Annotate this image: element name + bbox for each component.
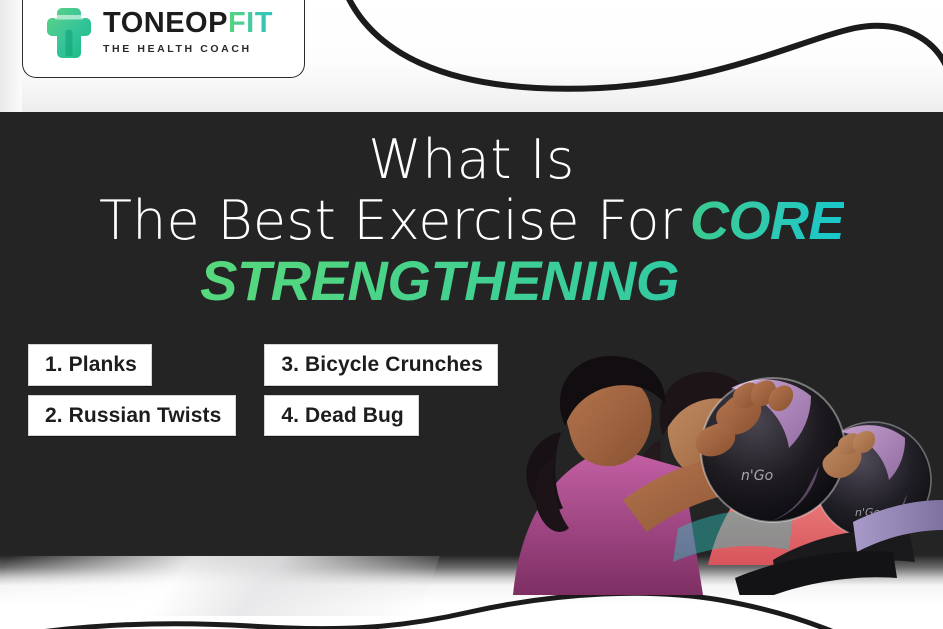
brand-name-part2: FIT — [228, 7, 273, 39]
poster-canvas: TONEOPFIT THE HEALTH COACH What Is The B… — [0, 0, 943, 629]
headline-accent-core: CORE — [682, 191, 844, 251]
exercise-photo-illustration: n'Go n'Go — [473, 340, 943, 595]
headline-block: What Is The Best Exercise ForCORE STRENG… — [0, 132, 943, 311]
headline-line-1: What Is — [0, 132, 943, 187]
brand-tagline: THE HEALTH COACH — [103, 43, 273, 55]
exercise-list: 1. Planks 3. Bicycle Crunches 2. Russian… — [28, 344, 498, 436]
headline-accent-strengthening: STRENGTHENING — [0, 252, 911, 311]
left-rail — [0, 0, 22, 112]
list-item[interactable]: 1. Planks — [28, 344, 152, 386]
list-item[interactable]: 3. Bicycle Crunches — [264, 344, 498, 386]
brand-logo-card[interactable]: TONEOPFIT THE HEALTH COACH — [22, 0, 305, 78]
list-item[interactable]: 2. Russian Twists — [28, 395, 236, 437]
headline-line-2-plain: The Best Exercise For — [99, 189, 682, 252]
toneop-cross-t-icon — [45, 6, 93, 58]
list-item[interactable]: 4. Dead Bug — [264, 395, 418, 437]
svg-text:n'Go: n'Go — [741, 468, 773, 484]
brand-name-part1: TONEOP — [103, 7, 228, 39]
brand-wordmark: TONEOPFIT THE HEALTH COACH — [103, 9, 273, 55]
headline-line-2: The Best Exercise ForCORE — [0, 193, 943, 250]
hero-photo: n'Go n'Go — [473, 340, 943, 595]
